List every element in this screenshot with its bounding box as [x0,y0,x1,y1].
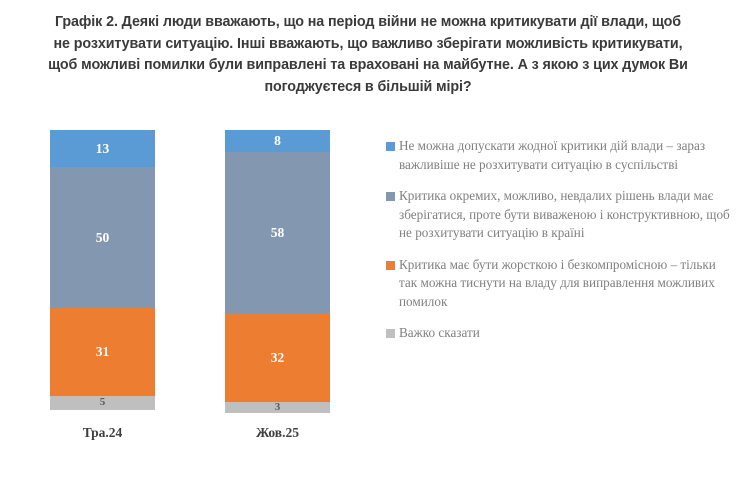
bar-segment-value: 13 [96,142,110,156]
chart-title-line-3: щоб можливі помилки були виправлені та в… [18,55,718,77]
plot-area: 13 50 31 5 8 58 32 3 Тра.24 Жов.25 [0,118,380,463]
chart-title-line-2: не розхитувати ситуацію. Інші вважають, … [18,34,718,56]
legend-item-hard-to-say[interactable]: Важко сказати [386,324,732,343]
legend-item-harsh-criticism[interactable]: Критика має бути жорсткою і безкомпроміс… [386,256,732,312]
bar-segment-value: 31 [96,345,110,359]
legend-swatch-icon [386,192,395,201]
bar-segment-value: 3 [275,402,281,413]
chart-title-line-4: погоджуєтеся в більшій мірі? [18,77,718,99]
bar-segment-value: 8 [274,134,281,148]
stacked-bar-column[interactable]: 13 50 31 5 [50,130,155,410]
bar-segment-hard-to-say[interactable]: 5 [50,396,155,410]
bar-segment-value: 58 [271,226,285,240]
legend-swatch-icon [386,261,395,270]
x-axis-tick-label: Тра.24 [50,425,155,441]
bar-segment-value: 50 [96,231,110,245]
bar-segment-value: 32 [271,351,285,365]
legend-item-balanced-criticism[interactable]: Критика окремих, можливо, невдалих рішен… [386,187,732,243]
bar-segment-no-criticism-allowed[interactable]: 13 [50,130,155,167]
bar-segment-balanced-criticism[interactable]: 58 [225,152,330,313]
chart-title-line-1: Графік 2. Деякі люди вважають, що на пер… [18,12,718,34]
legend-swatch-icon [386,142,395,151]
x-axis-tick-label: Жов.25 [225,425,330,441]
chart-title: Графік 2. Деякі люди вважають, що на пер… [18,12,718,98]
stacked-bar-column[interactable]: 8 58 32 3 [225,130,330,410]
legend-item-label: Критика має бути жорсткою і безкомпроміс… [399,256,732,312]
legend-item-label: Не можна допускати жодної критики дій вл… [399,137,732,174]
bar-segment-harsh-criticism[interactable]: 32 [225,313,330,402]
chart-legend: Не можна допускати жодної критики дій вл… [386,137,732,356]
bar-segment-value: 5 [100,397,106,408]
legend-item-label: Критика окремих, можливо, невдалих рішен… [399,187,732,243]
bar-segment-balanced-criticism[interactable]: 50 [50,167,155,308]
legend-swatch-icon [386,329,395,338]
legend-item-label: Важко сказати [399,324,480,343]
bar-segment-harsh-criticism[interactable]: 31 [50,308,155,396]
bar-segment-hard-to-say[interactable]: 3 [225,402,330,413]
bar-segment-no-criticism-allowed[interactable]: 8 [225,130,330,152]
legend-item-no-criticism-allowed[interactable]: Не можна допускати жодної критики дій вл… [386,137,732,174]
